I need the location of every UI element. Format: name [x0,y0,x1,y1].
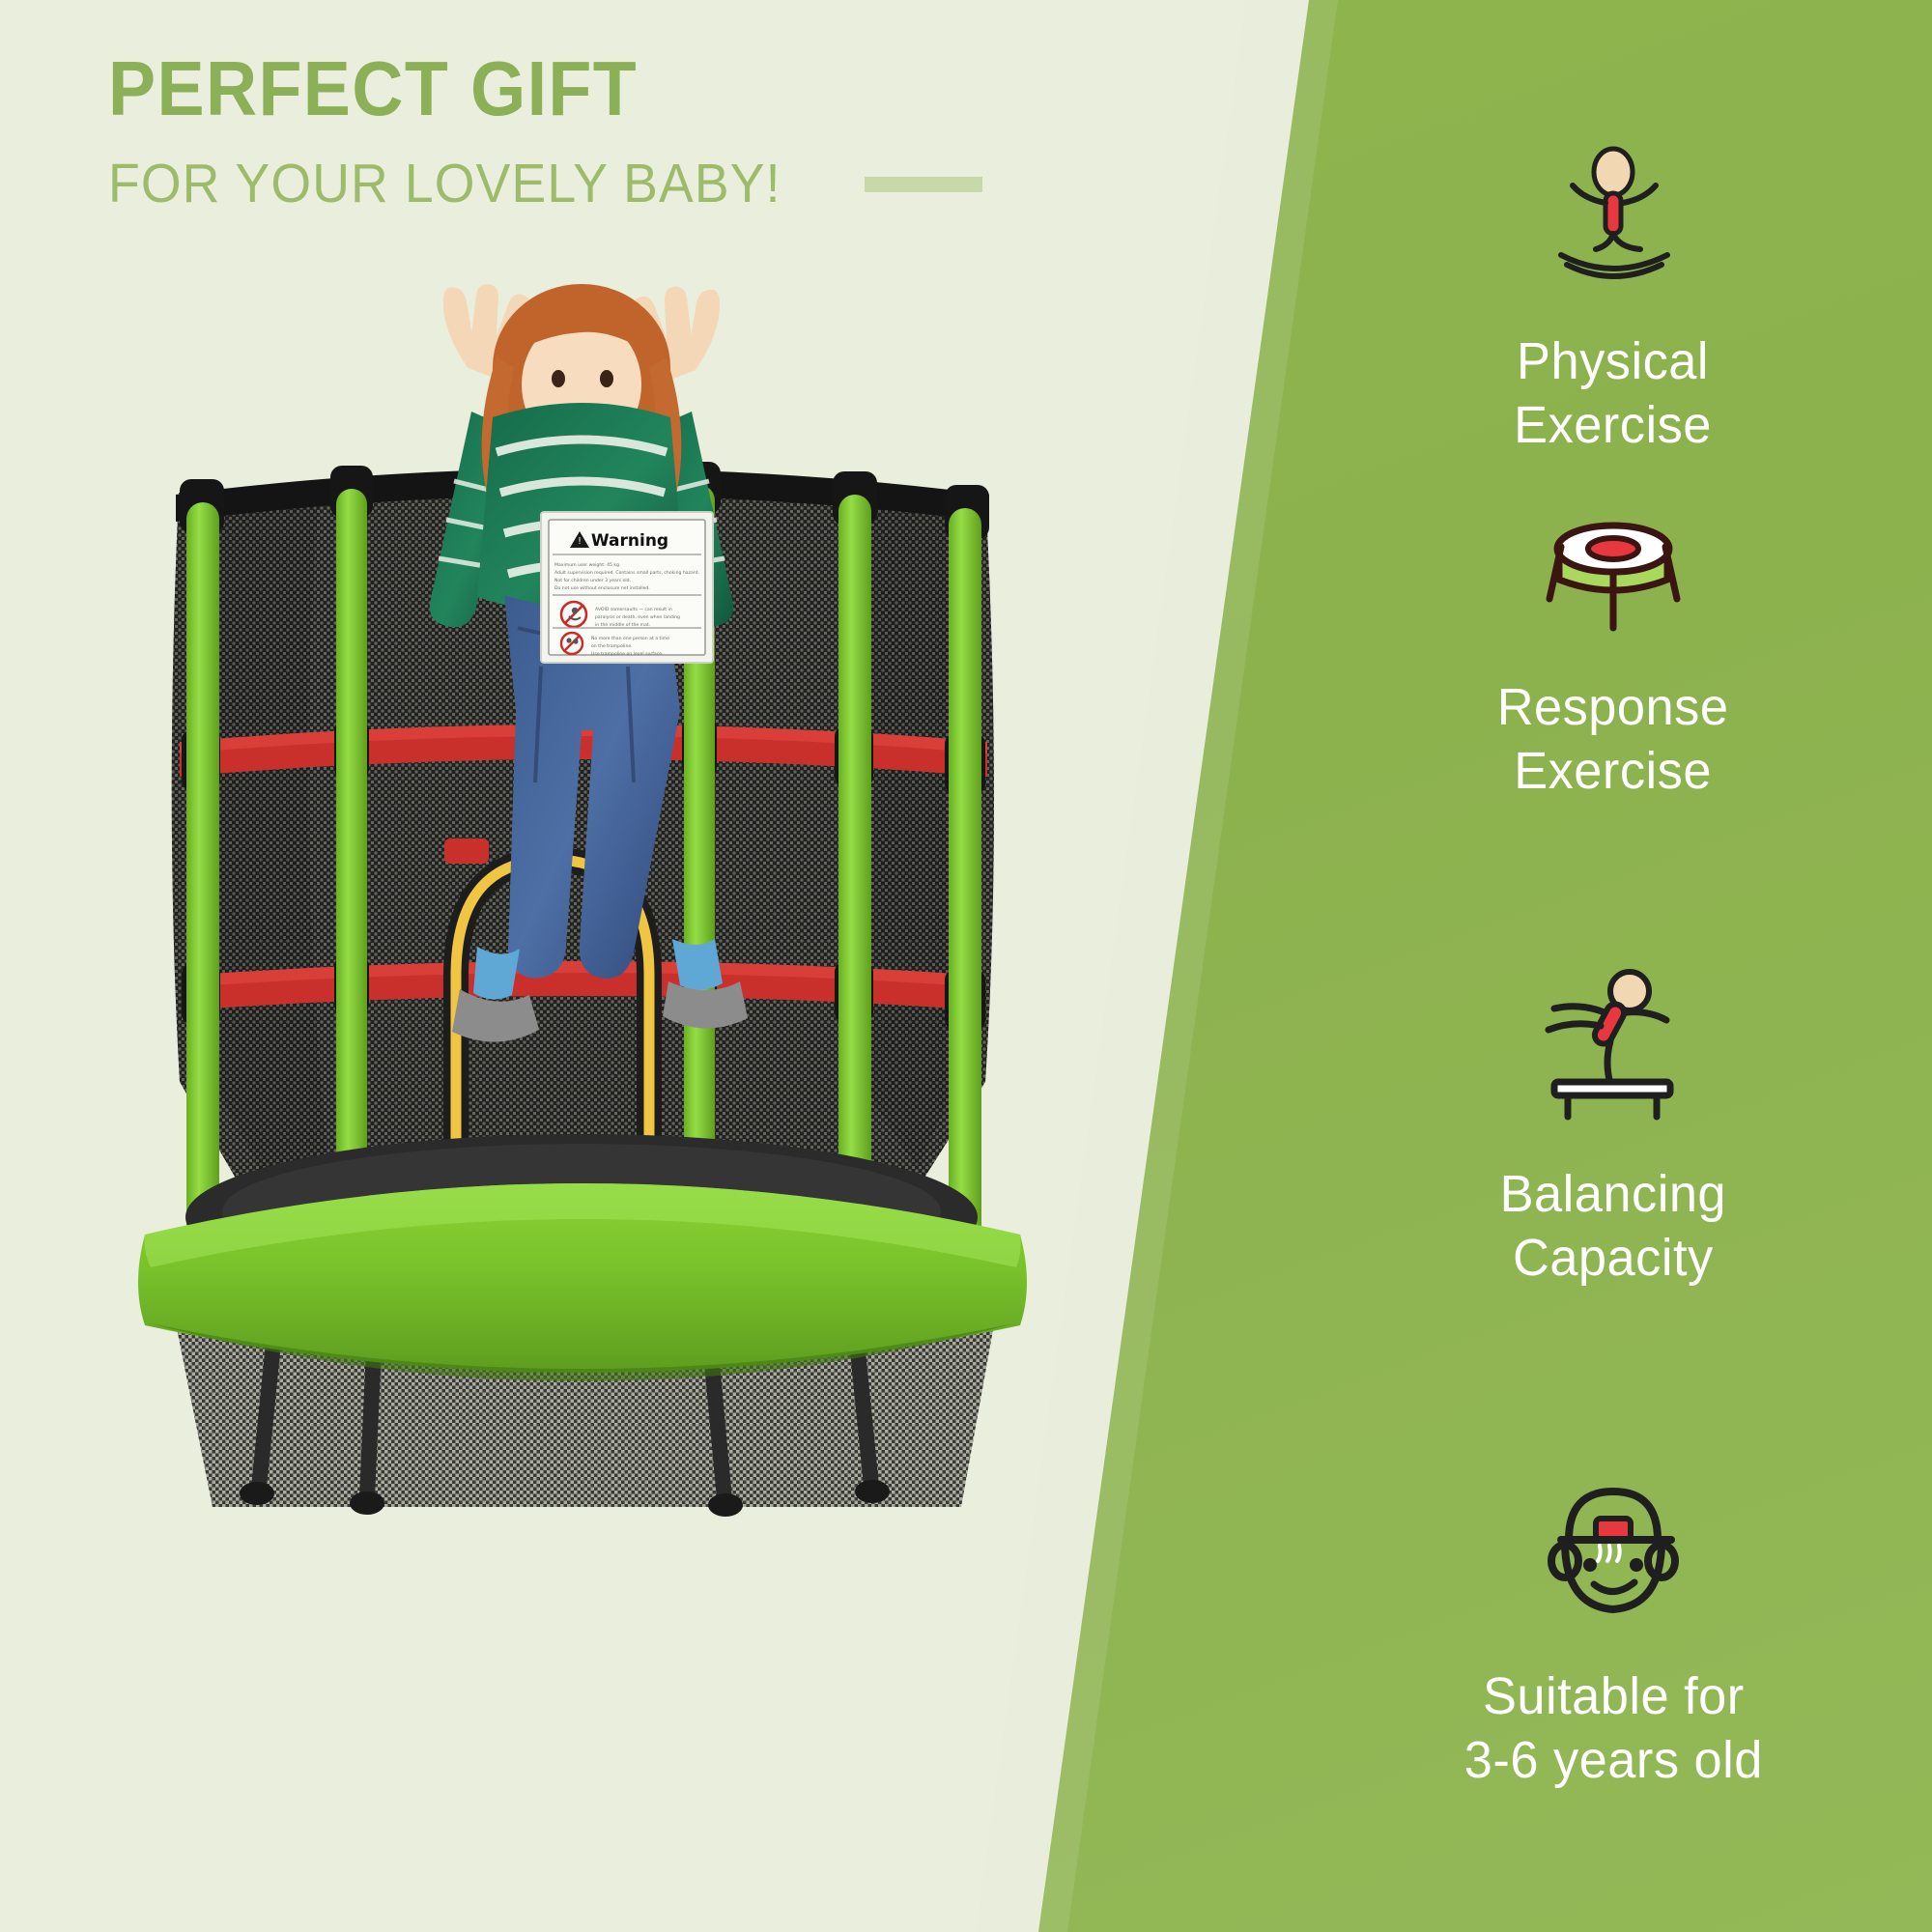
page-title: PERFECT GIFT [108,50,980,128]
decorative-dash [865,177,982,192]
person-balance-beam-icon [1512,956,1715,1130]
page-subtitle: FOR YOUR LOVELY BABY! [108,156,781,212]
feature-label: Balancing Capacity [1500,1163,1726,1291]
feature-label: Suitable for 3-6 years old [1463,1665,1762,1793]
svg-text:!: ! [578,536,582,547]
subheadline-row: FOR YOUR LOVELY BABY! [108,156,1055,212]
trampoline-icon [1517,498,1710,643]
svg-text:Adult supervision required. Co: Adult supervision required. Contains sma… [554,570,699,576]
feature-physical-exercise: Physical Exercise [1294,143,1932,458]
feature-label: Response Exercise [1497,676,1729,804]
svg-text:paralysis or death, even when: paralysis or death, even when landing [595,614,680,620]
trampoline-illustration: Aosom [87,213,1092,1874]
feature-age-suitability: Suitable for 3-6 years old [1294,1468,1932,1793]
svg-text:on the trampoline.: on the trampoline. [591,643,633,649]
svg-text:Use trampoline on level surfac: Use trampoline on level surface. [591,651,664,657]
poster-canvas: PERFECT GIFT FOR YOUR LOVELY BABY! [0,0,1932,1932]
svg-text:in the middle of the mat.: in the middle of the mat. [595,622,650,628]
feature-response-exercise: Response Exercise [1294,498,1932,804]
headline-block: PERFECT GIFT FOR YOUR LOVELY BABY! [108,50,1055,212]
warning-title: Warning [591,531,668,551]
svg-text:No more than one person at a t: No more than one person at a time [591,636,669,641]
feature-list: Physical Exercise Response Exercise [1294,0,1932,1932]
child-face-cap-icon [1526,1468,1700,1633]
person-bouncing-icon [1517,143,1710,298]
right-sock [672,939,723,990]
svg-text:Maximum user weight: 45 kg.: Maximum user weight: 45 kg. [554,562,620,568]
feature-balancing-capacity: Balancing Capacity [1294,956,1932,1291]
product-image: Aosom [87,213,1092,1874]
svg-text:Do not use without enclosure n: Do not use without enclosure net install… [554,585,650,591]
svg-text:AVOID somersaults — can result: AVOID somersaults — can result in [595,607,672,612]
svg-text:Not for children under 3 years: Not for children under 3 years old. [554,578,631,583]
feature-label: Physical Exercise [1515,330,1713,458]
warning-label: ! Warning Maximum user weight: 45 kg. Ad… [541,512,713,663]
